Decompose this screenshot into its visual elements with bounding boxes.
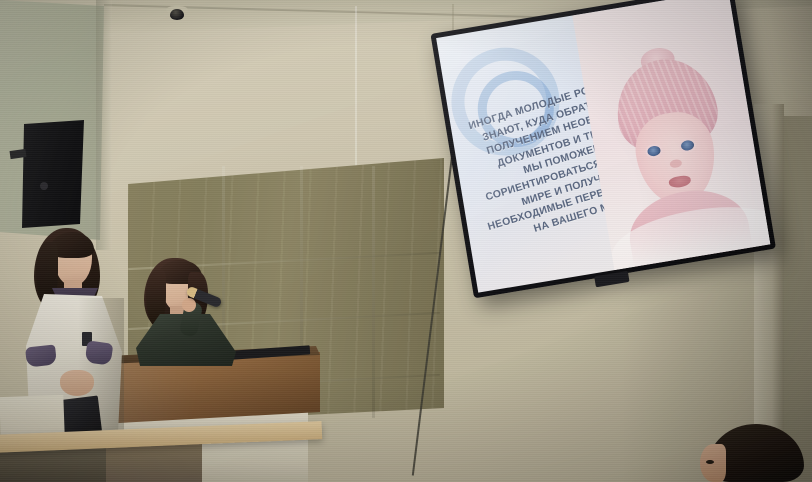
banner-fold xyxy=(372,166,375,418)
camera-dome xyxy=(170,9,184,20)
wall-corner-edge xyxy=(96,0,112,250)
wall-seam-vertical xyxy=(355,6,357,176)
person-speaker-at-podium xyxy=(130,258,242,360)
clasped-hands xyxy=(60,370,94,396)
hand-holding-mic xyxy=(182,298,196,312)
wall-mounted-tv[interactable]: ИНОГДА МОЛОДЫЕ РОДИТЕЛИ НЕ ЗНАЮТ, КУДА О… xyxy=(430,0,776,298)
pa-speaker xyxy=(22,120,84,228)
person-audience-member xyxy=(700,420,812,482)
baby-figure xyxy=(598,50,753,268)
tv-screen[interactable]: ИНОГДА МОЛОДЫЕ РОДИТЕЛИ НЕ ЗНАЮТ, КУДА О… xyxy=(436,0,770,293)
desk-side-panel xyxy=(0,395,65,437)
speaker-driver xyxy=(40,182,48,190)
dome-camera-icon xyxy=(166,6,188,22)
eye xyxy=(706,460,714,464)
photo-scene: ИНОГДА МОЛОДЫЕ РОДИТЕЛИ НЕ ЗНАЮТ, КУДА О… xyxy=(0,0,812,482)
